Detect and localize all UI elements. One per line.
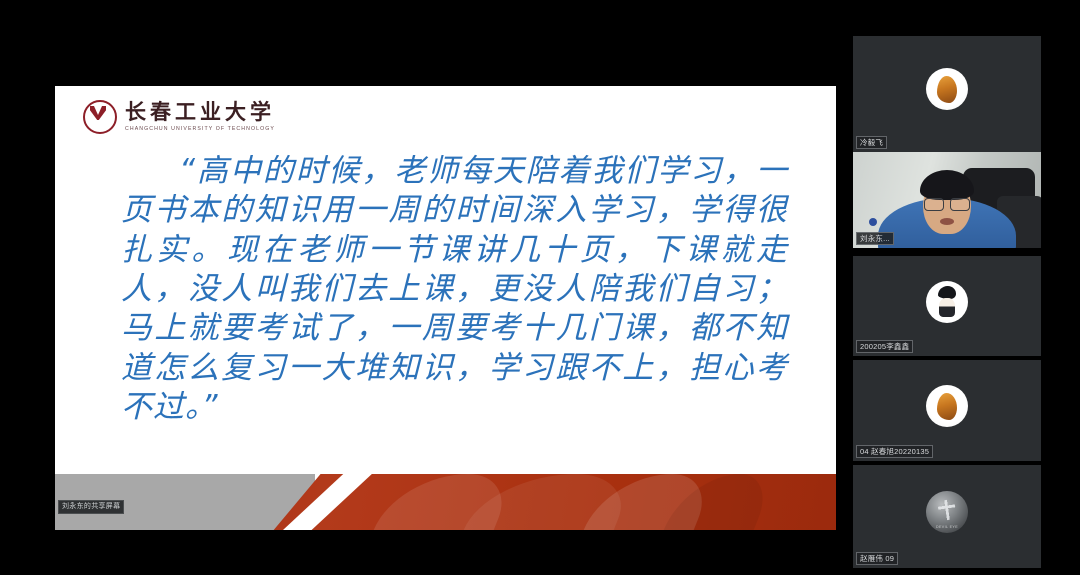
metal-avatar-icon: DEVIL EYE bbox=[926, 491, 968, 533]
avatar-subtext: DEVIL EYE bbox=[936, 525, 958, 529]
cartoon-avatar-icon bbox=[926, 281, 968, 323]
slide-quote-text: “高中的时候，老师每天陪着我们学习，一页书本的知识用一周的时间深入学习，学得很扎… bbox=[121, 152, 788, 428]
university-logo: 长春工业大学 CHANGCHUN UNIVERSITY OF TECHNOLOG… bbox=[83, 100, 275, 134]
logo-name-cn: 长春工业大学 bbox=[125, 102, 275, 123]
wall-object-icon bbox=[869, 218, 877, 226]
logo-name-en: CHANGCHUN UNIVERSITY OF TECHNOLOGY bbox=[125, 127, 275, 132]
screen-share-area[interactable]: 长春工业大学 CHANGCHUN UNIVERSITY OF TECHNOLOG… bbox=[0, 0, 836, 575]
logo-text-block: 长春工业大学 CHANGCHUN UNIVERSITY OF TECHNOLOG… bbox=[125, 102, 275, 132]
participant-tile[interactable]: DEVIL EYE 赵雁伟 09 bbox=[853, 465, 1041, 568]
participant-tile[interactable]: 04 赵春旭20220135 bbox=[853, 360, 1041, 461]
participant-name: 04 赵春旭20220135 bbox=[856, 445, 933, 458]
share-owner-nameplate: 刘永东的共享屏幕 bbox=[58, 500, 124, 514]
participant-name: 赵雁伟 09 bbox=[856, 552, 898, 565]
participant-tile[interactable]: 200205李鑫鑫 bbox=[853, 256, 1041, 356]
participant-tile[interactable]: 冷毅飞 bbox=[853, 36, 1041, 152]
bear-avatar-icon bbox=[926, 385, 968, 427]
participant-filmstrip[interactable]: 冷毅飞 刘永东... 200205李鑫鑫 bbox=[836, 0, 1080, 575]
participant-name: 刘永东... bbox=[856, 232, 894, 245]
university-crest-icon bbox=[83, 100, 117, 134]
slide-footer-decoration bbox=[55, 460, 836, 530]
person-mouth bbox=[940, 218, 954, 225]
participant-name: 200205李鑫鑫 bbox=[856, 340, 913, 353]
glasses-icon bbox=[924, 198, 970, 209]
conference-stage: 长春工业大学 CHANGCHUN UNIVERSITY OF TECHNOLOG… bbox=[0, 0, 1080, 575]
participant-name: 冷毅飞 bbox=[856, 136, 887, 149]
presentation-slide: 长春工业大学 CHANGCHUN UNIVERSITY OF TECHNOLOG… bbox=[55, 86, 836, 530]
participant-tile-active-speaker[interactable]: 刘永东... bbox=[853, 152, 1041, 248]
dog-avatar-icon bbox=[926, 68, 968, 110]
